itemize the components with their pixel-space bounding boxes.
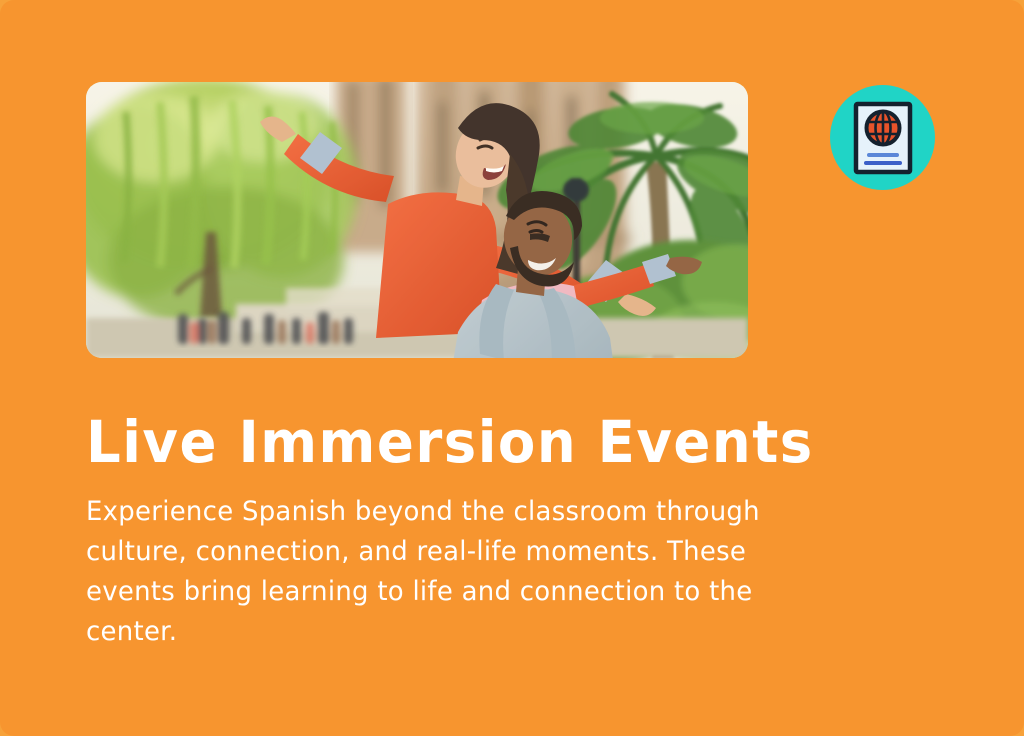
hero-photo <box>86 82 748 358</box>
page-subtitle: Experience Spanish beyond the classroom … <box>86 492 796 652</box>
promo-card: Live Immersion Events Experience Spanish… <box>0 0 1024 736</box>
text-block: Live Immersion Events Experience Spanish… <box>86 406 916 652</box>
passport-globe-badge <box>830 85 935 190</box>
passport-globe-icon <box>853 101 913 175</box>
page-title: Live Immersion Events <box>86 406 866 478</box>
hero-photo-illustration <box>86 82 748 358</box>
